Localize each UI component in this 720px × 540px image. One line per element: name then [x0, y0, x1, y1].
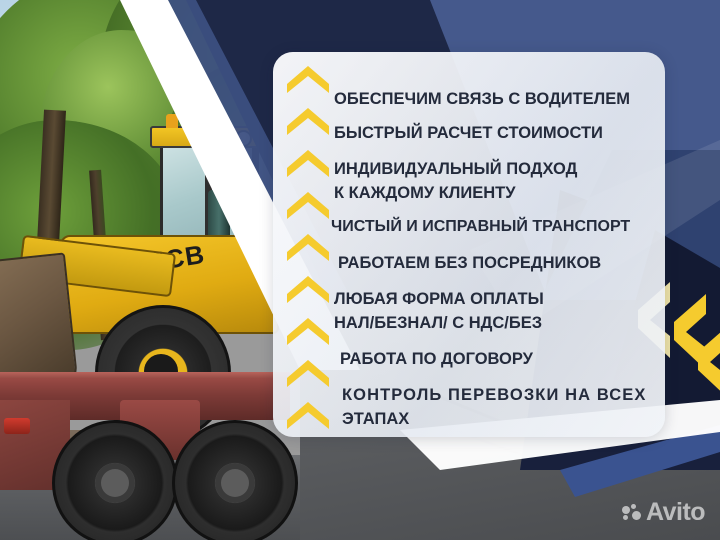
chevron-up-icon	[285, 316, 331, 346]
benefit-line-any-payment: ЛЮБАЯ ФОРМА ОПЛАТЫ	[334, 290, 544, 309]
payment-with-vat: С НДС	[448, 314, 505, 332]
chevron-up-icon	[285, 106, 331, 136]
chevron-up-icon	[285, 400, 331, 430]
chevron-up-icon	[285, 274, 331, 304]
chevron-up-icon	[285, 190, 331, 220]
avito-dots-icon	[622, 504, 641, 521]
avito-watermark: Avito	[622, 500, 705, 525]
benefit-line-no-intermediaries: РАБОТАЕМ БЕЗ ПОСРЕДНИКОВ	[338, 254, 601, 273]
benefit-line-fast-quote: БЫСТРЫЙ РАСЧЕТ СТОИМОСТИ	[334, 124, 603, 143]
benefit-line-shipment-control-cont: ЭТАПАХ	[342, 410, 409, 429]
benefit-line-clean-transport: ЧИСТЫЙ И ИСПРАВНЫЙ ТРАНСПОРТ	[331, 218, 630, 236]
payment-cashless: БЕЗНАЛ	[374, 314, 443, 332]
advertisement-image: JCB	[0, 0, 720, 540]
payment-without-vat: БЕЗ	[509, 314, 542, 332]
chevron-up-icon	[285, 58, 331, 88]
benefit-line-payment-forms: НАЛ/БЕЗНАЛ/ С НДС/БЕЗ	[334, 314, 542, 333]
benefit-line-individual-approach-cont: К КАЖДОМУ КЛИЕНТУ	[334, 184, 516, 203]
benefit-line-driver-contact: ОБЕСПЕЧИМ СВЯЗЬ С ВОДИТЕЛЕМ	[334, 90, 630, 109]
chevron-column	[285, 58, 341, 437]
chevron-up-icon	[285, 232, 331, 262]
benefit-line-individual-approach: ИНДИВИДУАЛЬНЫЙ ПОДХОД	[334, 160, 577, 179]
chevron-up-icon	[285, 358, 331, 388]
benefits-card: ОБЕСПЕЧИМ СВЯЗЬ С ВОДИТЕЛЕМ БЫСТРЫЙ РАСЧ…	[273, 52, 665, 437]
payment-cash: НАЛ	[334, 314, 370, 332]
avito-wordmark: Avito	[646, 500, 705, 525]
benefit-line-shipment-control: КОНТРОЛЬ ПЕРЕВОЗКИ НА ВСЕХ	[342, 386, 646, 405]
chevron-up-icon	[285, 148, 331, 178]
benefit-line-contract-work: РАБОТА ПО ДОГОВОРУ	[340, 350, 533, 369]
